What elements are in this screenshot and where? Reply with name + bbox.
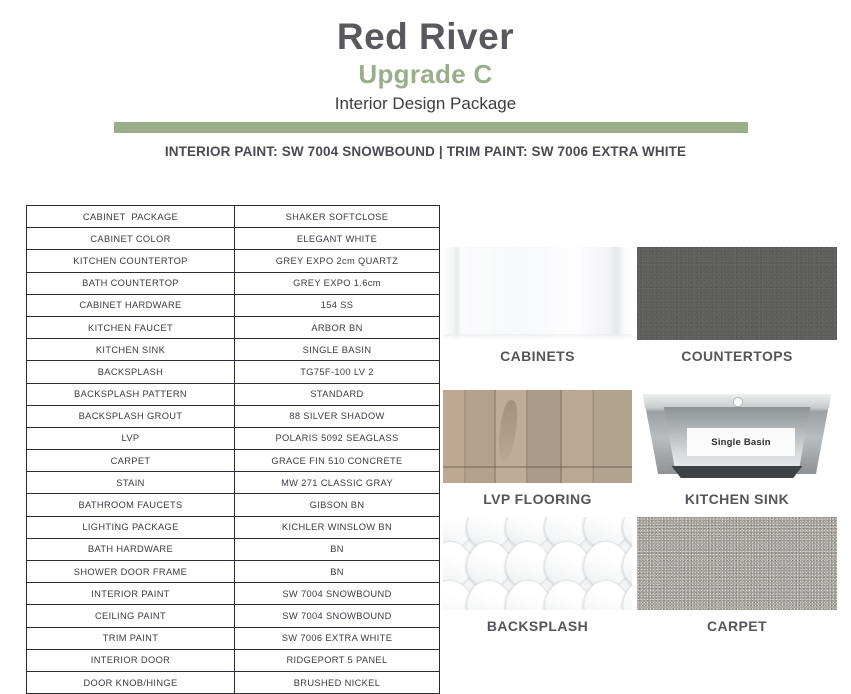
spec-label: BACKSPLASH bbox=[27, 361, 235, 383]
spec-label: INTERIOR DOOR bbox=[27, 649, 235, 671]
backsplash-swatch bbox=[443, 517, 632, 610]
spec-label: INTERIOR PAINT bbox=[27, 583, 235, 605]
spec-label: KITCHEN SINK bbox=[27, 339, 235, 361]
table-row: BATHROOM FAUCETS GIBSON BN bbox=[27, 494, 440, 516]
specification-table: CABINET PACKAGE SHAKER SOFTCLOSE CABINET… bbox=[26, 205, 440, 694]
swatch-item-kitchen-sink: Single Basin KITCHEN SINK bbox=[637, 390, 831, 507]
spec-value: SW 7004 SNOWBOUND bbox=[235, 605, 440, 627]
spec-label: KITCHEN COUNTERTOP bbox=[27, 250, 235, 272]
swatch-label: CABINETS bbox=[443, 348, 632, 364]
table-row: CABINET PACKAGE SHAKER SOFTCLOSE bbox=[27, 206, 440, 228]
spec-value: ELEGANT WHITE bbox=[235, 228, 440, 250]
spec-label: LIGHTING PACKAGE bbox=[27, 516, 235, 538]
carpet-swatch bbox=[637, 517, 837, 610]
spec-label: LVP bbox=[27, 427, 235, 449]
table-row: DOOR KNOB/HINGE BRUSHED NICKEL bbox=[27, 671, 440, 693]
table-row: SHOWER DOOR FRAME BN bbox=[27, 561, 440, 583]
spec-label: STAIN bbox=[27, 472, 235, 494]
swatch-label: BACKSPLASH bbox=[443, 618, 632, 634]
table-row: BACKSPLASH GROUT 88 SILVER SHADOW bbox=[27, 405, 440, 427]
table-row: INTERIOR PAINT SW 7004 SNOWBOUND bbox=[27, 583, 440, 605]
table-row: LIGHTING PACKAGE KICHLER WINSLOW BN bbox=[27, 516, 440, 538]
table-row: STAIN MW 271 CLASSIC GRAY bbox=[27, 472, 440, 494]
table-row: KITCHEN COUNTERTOP GREY EXPO 2cm QUARTZ bbox=[27, 250, 440, 272]
spec-label: TRIM PAINT bbox=[27, 627, 235, 649]
spec-value: GIBSON BN bbox=[235, 494, 440, 516]
swatch-item-carpet: CARPET bbox=[637, 517, 831, 634]
swatch-item-lvp-flooring: LVP FLOORING bbox=[443, 390, 637, 507]
spec-label: CARPET bbox=[27, 450, 235, 472]
table-row: BATH HARDWARE BN bbox=[27, 538, 440, 560]
spec-value: MW 271 CLASSIC GRAY bbox=[235, 472, 440, 494]
swatch-label: KITCHEN SINK bbox=[637, 491, 837, 507]
sink-basin-plate: Single Basin bbox=[687, 428, 795, 456]
countertops-swatch bbox=[637, 247, 837, 340]
spec-label: CABINET HARDWARE bbox=[27, 294, 235, 316]
spec-value: 88 SILVER SHADOW bbox=[235, 405, 440, 427]
spec-label: CABINET PACKAGE bbox=[27, 206, 235, 228]
page-description: Interior Design Package bbox=[0, 95, 851, 114]
table-row: CABINET HARDWARE 154 SS bbox=[27, 294, 440, 316]
page-subtitle: Upgrade C bbox=[0, 61, 851, 88]
paint-spec-line: INTERIOR PAINT: SW 7004 SNOWBOUND | TRIM… bbox=[0, 144, 851, 159]
spec-value: GREY EXPO 1.6cm bbox=[235, 272, 440, 294]
swatch-label: COUNTERTOPS bbox=[637, 348, 837, 364]
spec-label: BACKSPLASH PATTERN bbox=[27, 383, 235, 405]
table-row: INTERIOR DOOR RIDGEPORT 5 PANEL bbox=[27, 649, 440, 671]
spec-value: GRACE FIN 510 CONCRETE bbox=[235, 450, 440, 472]
spec-value: SINGLE BASIN bbox=[235, 339, 440, 361]
spec-label: SHOWER DOOR FRAME bbox=[27, 561, 235, 583]
page-title: Red River bbox=[0, 18, 851, 57]
spec-label: CEILING PAINT bbox=[27, 605, 235, 627]
spec-label: DOOR KNOB/HINGE bbox=[27, 671, 235, 693]
backsplash-tile-grid bbox=[443, 517, 632, 610]
spec-label: BATH HARDWARE bbox=[27, 538, 235, 560]
page-header: Red River Upgrade C Interior Design Pack… bbox=[0, 0, 851, 114]
table-row: BACKSPLASH PATTERN STANDARD bbox=[27, 383, 440, 405]
spec-label: KITCHEN FAUCET bbox=[27, 316, 235, 338]
sink-bottom-shadow bbox=[659, 466, 815, 478]
table-row: LVP POLARIS 5092 SEAGLASS bbox=[27, 427, 440, 449]
spec-value: POLARIS 5092 SEAGLASS bbox=[235, 427, 440, 449]
lvp-flooring-swatch bbox=[443, 390, 632, 483]
specification-table-body: CABINET PACKAGE SHAKER SOFTCLOSE CABINET… bbox=[27, 206, 440, 694]
spec-value: KICHLER WINSLOW BN bbox=[235, 516, 440, 538]
spec-label: BACKSPLASH GROUT bbox=[27, 405, 235, 427]
swatch-item-cabinets: CABINETS bbox=[443, 247, 637, 364]
spec-label: BATHROOM FAUCETS bbox=[27, 494, 235, 516]
spec-value: SW 7006 EXTRA WHITE bbox=[235, 627, 440, 649]
table-row: TRIM PAINT SW 7006 EXTRA WHITE bbox=[27, 627, 440, 649]
spec-value: BN bbox=[235, 538, 440, 560]
table-row: BATH COUNTERTOP GREY EXPO 1.6cm bbox=[27, 272, 440, 294]
spec-value: RIDGEPORT 5 PANEL bbox=[235, 649, 440, 671]
sink-faucet-hole bbox=[733, 397, 743, 407]
swatch-label: LVP FLOORING bbox=[443, 491, 632, 507]
spec-label: BATH COUNTERTOP bbox=[27, 272, 235, 294]
sink-basin-label: Single Basin bbox=[711, 437, 770, 448]
swatch-item-backsplash: BACKSPLASH bbox=[443, 517, 637, 634]
table-row: KITCHEN FAUCET ARBOR BN bbox=[27, 316, 440, 338]
kitchen-sink-swatch: Single Basin bbox=[637, 390, 837, 483]
accent-divider-bar bbox=[114, 122, 748, 133]
cabinets-swatch bbox=[443, 247, 632, 340]
spec-value: SW 7004 SNOWBOUND bbox=[235, 583, 440, 605]
spec-value: SHAKER SOFTCLOSE bbox=[235, 206, 440, 228]
spec-value: BRUSHED NICKEL bbox=[235, 671, 440, 693]
swatch-item-countertops: COUNTERTOPS bbox=[637, 247, 831, 364]
table-row: CARPET GRACE FIN 510 CONCRETE bbox=[27, 450, 440, 472]
spec-value: TG75F-100 LV 2 bbox=[235, 361, 440, 383]
spec-value: 154 SS bbox=[235, 294, 440, 316]
table-row: KITCHEN SINK SINGLE BASIN bbox=[27, 339, 440, 361]
table-row: CEILING PAINT SW 7004 SNOWBOUND bbox=[27, 605, 440, 627]
swatch-label: CARPET bbox=[637, 618, 837, 634]
spec-value: BN bbox=[235, 561, 440, 583]
table-row: CABINET COLOR ELEGANT WHITE bbox=[27, 228, 440, 250]
table-row: BACKSPLASH TG75F-100 LV 2 bbox=[27, 361, 440, 383]
spec-value: STANDARD bbox=[235, 383, 440, 405]
spec-label: CABINET COLOR bbox=[27, 228, 235, 250]
spec-value: GREY EXPO 2cm QUARTZ bbox=[235, 250, 440, 272]
spec-value: ARBOR BN bbox=[235, 316, 440, 338]
